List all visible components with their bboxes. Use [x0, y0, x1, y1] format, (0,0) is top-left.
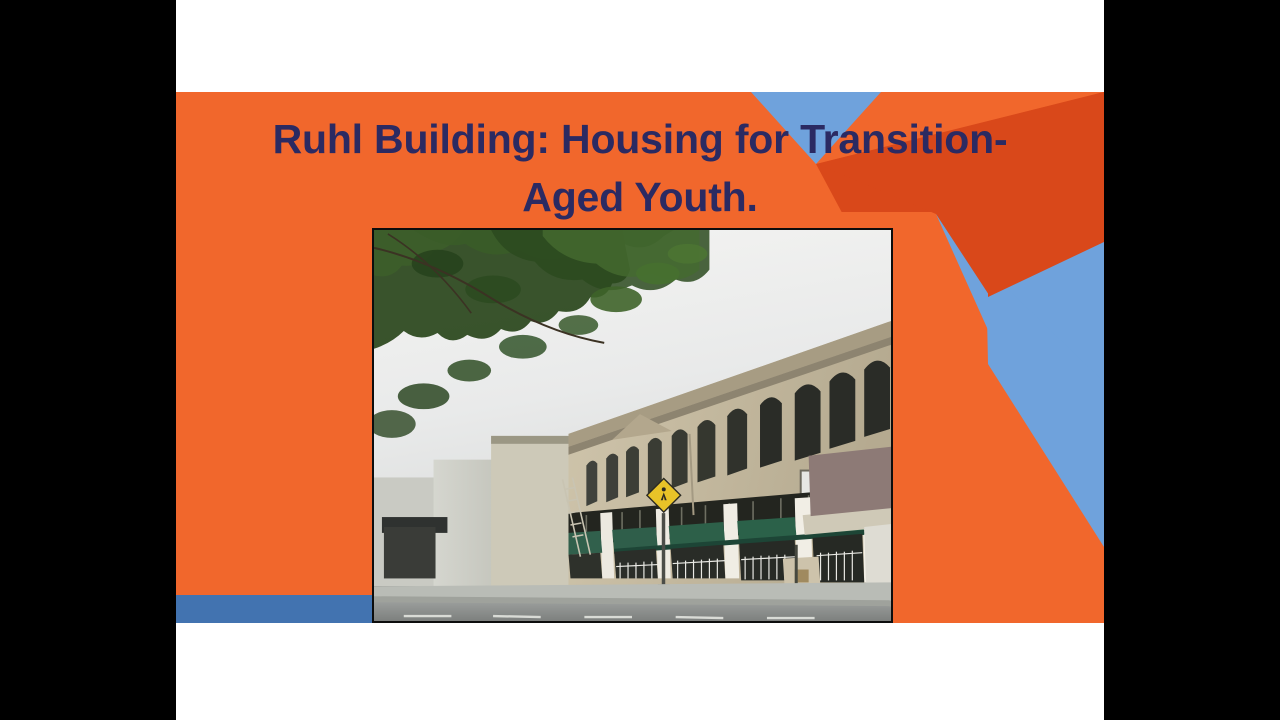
slide-title-block: Ruhl Building: Housing for Transition- A… — [176, 110, 1104, 226]
photo-left-storefront-dark — [384, 527, 436, 578]
photo-left-building-near — [491, 436, 568, 586]
page-title: Ruhl Building: Housing for Transition- A… — [176, 110, 1104, 226]
photo-mauve-panel — [809, 447, 891, 516]
photo-left-building-dark-band — [491, 436, 568, 444]
blue-accent-bar-bottom-left — [176, 595, 372, 623]
blue-notch-icon — [936, 214, 988, 330]
screen: Ruhl Building: Housing for Transition- A… — [0, 0, 1280, 720]
presentation-slide: Ruhl Building: Housing for Transition- A… — [176, 92, 1104, 623]
building-photo: Ruhl Building street view: historic four… — [372, 228, 893, 623]
photo-white-door-right — [864, 524, 891, 586]
dark-orange-polygon-lower-icon — [879, 232, 1104, 297]
blue-chevron-lower-icon — [936, 268, 1104, 547]
building-photo-canvas — [374, 230, 891, 621]
